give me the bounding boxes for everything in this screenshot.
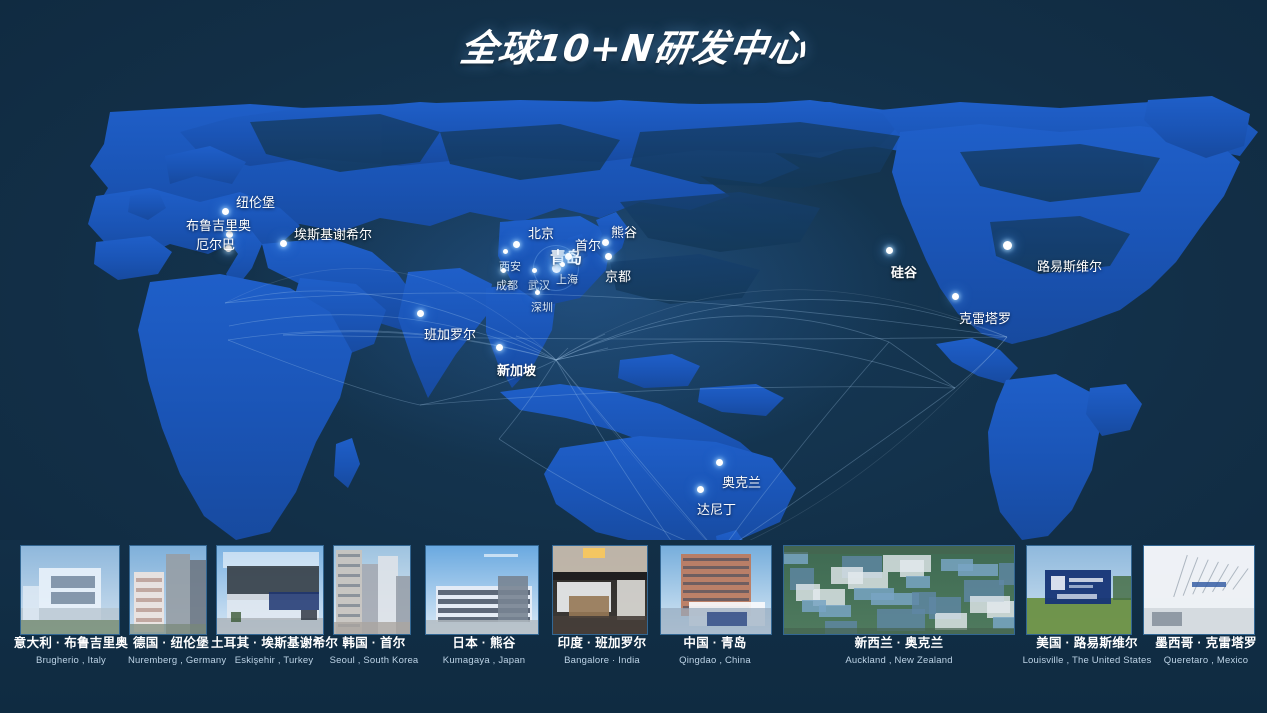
facility-caption-cn: 意大利 · 布鲁吉里奥: [12, 636, 130, 652]
facility-caption-cn: 土耳其 · 埃斯基谢希尔: [211, 636, 337, 652]
facility-caption-en: Queretaro , Mexico: [1152, 655, 1260, 666]
facility-photo[interactable]: [333, 545, 411, 635]
facility-caption: 土耳其 · 埃斯基谢希尔Eskişehir , Turkey: [211, 636, 337, 666]
city-label[interactable]: 路易斯维尔: [1037, 260, 1102, 273]
city-label[interactable]: 京都: [605, 270, 631, 283]
facility-photo[interactable]: [129, 545, 207, 635]
facility-photo[interactable]: [1026, 545, 1132, 635]
city-marker-dot[interactable]: [565, 253, 572, 260]
city-marker-dot[interactable]: [532, 268, 537, 273]
city-marker-dot[interactable]: [560, 262, 565, 267]
city-marker-dot[interactable]: [605, 253, 612, 260]
facility-caption-en: Louisville , The United States: [1022, 655, 1152, 666]
city-label[interactable]: 首尔: [575, 239, 601, 252]
city-marker-dot[interactable]: [513, 241, 520, 248]
facility-caption-en: Seoul , South Korea: [329, 655, 419, 666]
facility-caption-cn: 墨西哥 · 克雷塔罗: [1152, 636, 1260, 652]
facility-caption-cn: 新西兰 · 奥克兰: [840, 636, 958, 652]
city-label[interactable]: 纽伦堡: [236, 196, 275, 209]
facility-caption: 中国 · 青岛Qingdao , China: [667, 636, 763, 666]
world-map-svg: [0, 92, 1267, 540]
city-marker-dot[interactable]: [602, 239, 609, 246]
city-label[interactable]: 深圳: [531, 303, 553, 314]
city-marker-dot[interactable]: [886, 247, 893, 254]
facility-caption: 印度 · 班加罗尔Bangalore · India: [553, 636, 651, 666]
city-label[interactable]: 厄尔巴: [196, 238, 235, 251]
city-marker-dot[interactable]: [535, 290, 540, 295]
slide-canvas: 全球10+N研发中心: [0, 0, 1267, 713]
facility-photo[interactable]: [552, 545, 648, 635]
city-marker-dot[interactable]: [1003, 241, 1012, 250]
city-marker-dot[interactable]: [697, 486, 704, 493]
city-marker-dot[interactable]: [280, 240, 287, 247]
city-marker-dot[interactable]: [952, 293, 959, 300]
title-bar: 全球10+N研发中心: [0, 18, 1267, 72]
city-marker-dot[interactable]: [501, 268, 506, 273]
city-label[interactable]: 熊谷: [611, 226, 637, 239]
city-label[interactable]: 北京: [528, 227, 554, 240]
facility-caption-cn: 日本 · 熊谷: [440, 636, 528, 652]
city-marker-dot[interactable]: [503, 249, 508, 254]
city-label[interactable]: 硅谷: [891, 266, 917, 279]
facility-photo[interactable]: [425, 545, 539, 635]
facility-caption: 意大利 · 布鲁吉里奥Brugherio , Italy: [12, 636, 130, 666]
city-marker-dot[interactable]: [716, 459, 723, 466]
city-marker-dot[interactable]: [496, 344, 503, 351]
facility-caption: 墨西哥 · 克雷塔罗Queretaro , Mexico: [1152, 636, 1260, 666]
facility-caption: 德国 · 纽伦堡Nuremberg , Germany: [128, 636, 214, 666]
facility-caption: 韩国 · 首尔Seoul , South Korea: [329, 636, 419, 666]
city-label[interactable]: 上海: [556, 275, 578, 286]
facility-photo[interactable]: [20, 545, 120, 635]
facility-photo[interactable]: [216, 545, 324, 635]
facility-caption-en: Brugherio , Italy: [12, 655, 130, 666]
facility-caption: 美国 · 路易斯维尔Louisville , The United States: [1022, 636, 1152, 666]
facility-photo[interactable]: [660, 545, 772, 635]
facility-caption-cn: 美国 · 路易斯维尔: [1022, 636, 1152, 652]
facility-caption-cn: 印度 · 班加罗尔: [553, 636, 651, 652]
city-label[interactable]: 克雷塔罗: [959, 312, 1011, 325]
city-label[interactable]: 奥克兰: [722, 476, 761, 489]
city-label[interactable]: 达尼丁: [697, 503, 736, 516]
city-marker-dot[interactable]: [417, 310, 424, 317]
facility-caption-cn: 韩国 · 首尔: [329, 636, 419, 652]
city-label[interactable]: 布鲁吉里奥: [186, 219, 251, 232]
facility-caption-cn: 中国 · 青岛: [667, 636, 763, 652]
facility-strip: 意大利 · 布鲁吉里奥Brugherio , Italy德国 · 纽伦堡Nure…: [0, 540, 1267, 713]
facility-caption: 日本 · 熊谷Kumagaya , Japan: [440, 636, 528, 666]
facility-photos: [0, 545, 1267, 635]
city-label[interactable]: 班加罗尔: [424, 328, 476, 341]
facility-photo[interactable]: [783, 545, 1015, 635]
page-title: 全球10+N研发中心: [457, 18, 810, 72]
facility-caption-en: Nuremberg , Germany: [128, 655, 214, 666]
facility-caption: 新西兰 · 奥克兰Auckland , New Zealand: [840, 636, 958, 666]
facility-caption-en: Kumagaya , Japan: [440, 655, 528, 666]
facility-caption-en: Qingdao , China: [667, 655, 763, 666]
facility-caption-en: Bangalore · India: [553, 655, 651, 666]
facility-captions: 意大利 · 布鲁吉里奥Brugherio , Italy德国 · 纽伦堡Nure…: [0, 636, 1267, 684]
city-label[interactable]: 新加坡: [497, 364, 536, 377]
facility-caption-en: Eskişehir , Turkey: [211, 655, 337, 666]
city-label[interactable]: 埃斯基谢希尔: [294, 228, 372, 241]
city-label[interactable]: 成都: [496, 281, 518, 292]
facility-photo[interactable]: [1143, 545, 1255, 635]
facility-caption-en: Auckland , New Zealand: [840, 655, 958, 666]
city-marker-dot[interactable]: [222, 208, 229, 215]
world-map: 纽伦堡布鲁吉里奥厄尔巴埃斯基谢希尔北京青岛首尔熊谷京都西安成都武汉上海深圳班加罗…: [0, 92, 1267, 540]
facility-caption-cn: 德国 · 纽伦堡: [128, 636, 214, 652]
